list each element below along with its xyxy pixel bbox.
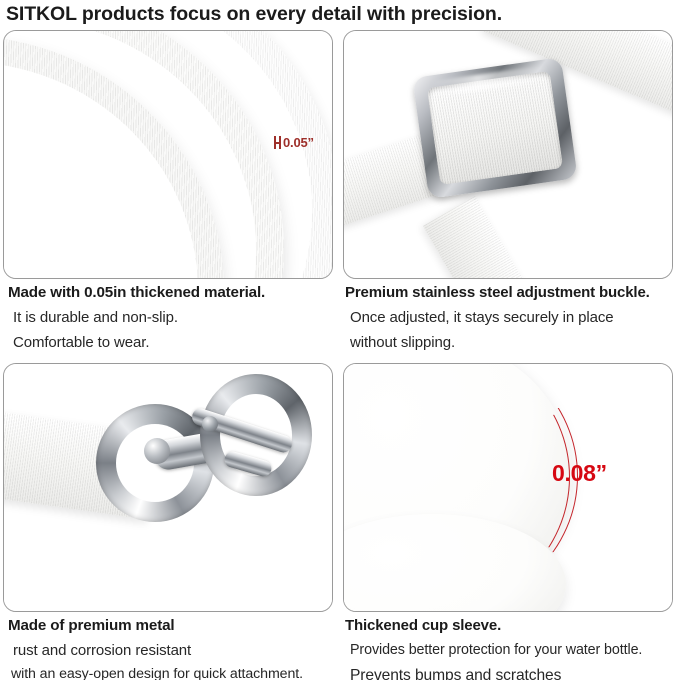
panel-buckle — [343, 30, 673, 279]
caption-line: Comfortable to wear. — [8, 330, 344, 355]
caption-headline: Made with 0.05in thickened material. — [8, 281, 344, 305]
caliper-icon — [274, 136, 281, 149]
caption-headline: Premium stainless steel adjustment buckl… — [345, 281, 679, 305]
caption-line: rust and corrosion resistant — [8, 638, 344, 663]
caption-buckle: Premium stainless steel adjustment buckl… — [345, 281, 679, 355]
pivot-rivet — [202, 416, 218, 432]
caption-headline: Made of premium metal — [8, 614, 344, 638]
panel-cup-sleeve: 0.08” — [343, 363, 673, 612]
caption-line: Prevents bumps and scratches — [345, 663, 679, 680]
snap-hook-photo — [4, 364, 332, 611]
caption-line: It is durable and non-slip. — [8, 305, 344, 330]
measurement-label-008: 0.08” — [552, 460, 607, 487]
panel-snap-hook — [3, 363, 333, 612]
page-title: SITKOL products focus on every detail wi… — [6, 0, 676, 28]
caption-cup-sleeve: Thickened cup sleeve. Provides better pr… — [345, 614, 679, 680]
strap-photo: 0.05” — [4, 31, 332, 278]
caption-strap-thickness: Made with 0.05in thickened material. It … — [8, 281, 344, 355]
caption-line: Provides better protection for your wate… — [345, 638, 679, 663]
panel-strap-thickness: 0.05” — [3, 30, 333, 279]
caption-line: with an easy-open design for quick attac… — [8, 663, 344, 680]
caption-snap-hook: Made of premium metal rust and corrosion… — [8, 614, 344, 680]
infographic-page: SITKOL products focus on every detail wi… — [0, 0, 679, 680]
caption-line: without slipping. — [345, 330, 679, 355]
caption-line: Once adjusted, it stays securely in plac… — [345, 305, 679, 330]
measurement-label-005: 0.05” — [274, 135, 314, 150]
buckle-photo — [344, 31, 672, 278]
cup-sleeve-photo: 0.08” — [344, 364, 672, 611]
caption-headline: Thickened cup sleeve. — [345, 614, 679, 638]
